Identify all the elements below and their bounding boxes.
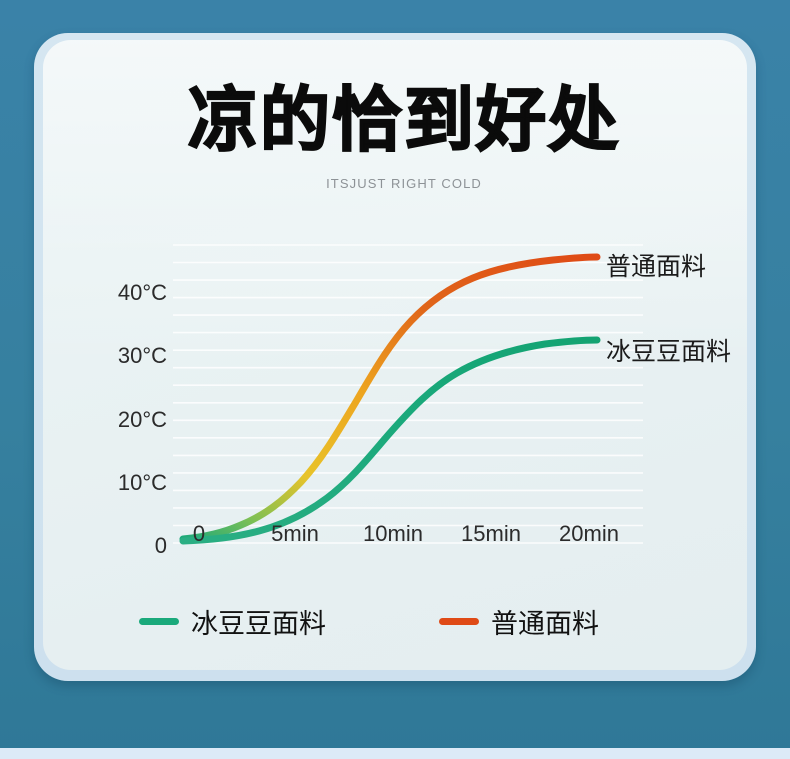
page-title: 凉的恰到好处 (43, 85, 747, 155)
series-line-cool (183, 340, 597, 541)
page-subtitle: ITSJUST RIGHT COLD (43, 176, 747, 191)
plot-area (173, 225, 643, 510)
y-tick-40: 40°C (79, 280, 167, 306)
chart-legend: 冰豆豆面料 普通面料 (139, 602, 699, 646)
x-tick-20: 20min (559, 521, 619, 547)
legend-item-cool: 冰豆豆面料 (139, 602, 326, 641)
legend-line-icon-normal (439, 618, 479, 625)
legend-label-cool: 冰豆豆面料 (191, 602, 326, 641)
promo-page: 凉的恰到好处 ITSJUST RIGHT COLD 40°C 30°C 20°C… (0, 0, 790, 759)
y-axis: 40°C 30°C 20°C 10°C 0 (79, 225, 167, 525)
content-card: 凉的恰到好处 ITSJUST RIGHT COLD 40°C 30°C 20°C… (34, 33, 756, 681)
legend-line-icon-cool (139, 618, 179, 625)
x-axis: 0 5min 10min 15min 20min (143, 521, 663, 555)
series-line-normal (183, 257, 597, 539)
bottom-strip (0, 748, 790, 759)
y-tick-20: 20°C (79, 407, 167, 433)
plot-svg (173, 225, 643, 565)
x-tick-10: 10min (363, 521, 423, 547)
series-end-label-normal: 普通面料 (606, 247, 706, 283)
y-tick-30: 30°C (79, 343, 167, 369)
y-tick-10: 10°C (79, 470, 167, 496)
legend-item-normal: 普通面料 (439, 602, 599, 641)
content-card-inner: 凉的恰到好处 ITSJUST RIGHT COLD 40°C 30°C 20°C… (43, 40, 747, 670)
x-tick-5: 5min (271, 521, 319, 547)
legend-label-normal: 普通面料 (491, 602, 599, 641)
temperature-chart: 40°C 30°C 20°C 10°C 0 (43, 225, 747, 605)
series-end-label-cool: 冰豆豆面料 (606, 332, 731, 368)
x-tick-0: 0 (193, 521, 205, 547)
gridlines (173, 245, 643, 543)
x-tick-15: 15min (461, 521, 521, 547)
